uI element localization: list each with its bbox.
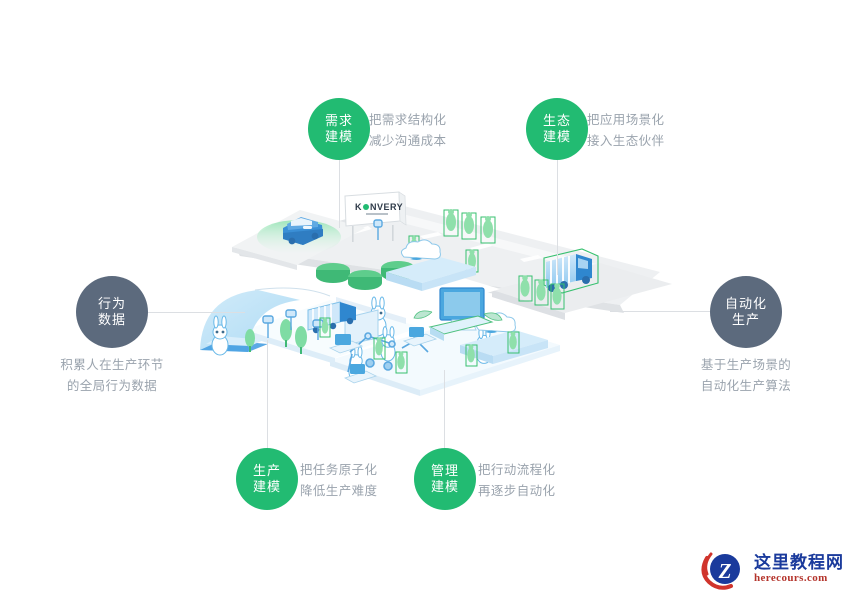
car-platform [232,210,365,270]
robot-arm [348,333,428,372]
people-group-truck [519,275,564,309]
connector-behavior [145,312,245,313]
svg-text:Z: Z [718,559,732,583]
node-production-modeling[interactable]: 生产 建模 [236,448,298,510]
watermark: Z 这里教程网 herecours.com [699,548,844,592]
main-floor [245,268,560,396]
node-label-line2: 建模 [253,479,281,495]
caption-line2: 降低生产难度 [300,481,377,502]
cloud-platform-upper [386,240,476,291]
caption-line2: 减少沟通成本 [369,131,446,152]
node-label-line2: 生产 [732,312,760,328]
caption-line1: 积累人在生产环节 [56,355,168,376]
node-label-line2: 数据 [98,312,126,328]
people-group-lower [320,318,519,373]
caption-automated-production: 基于生产场景的 自动化生产算法 [690,355,802,396]
caption-line1: 把行动流程化 [478,460,555,481]
node-label-line1: 行为 [98,296,126,312]
node-management-modeling[interactable]: 管理 建模 [414,448,476,510]
caption-ecology-modeling: 把应用场景化 接入生态伙伴 [587,110,664,151]
caption-line2: 接入生态伙伴 [587,131,664,152]
caption-line1: 把应用场景化 [587,110,664,131]
node-automated-production[interactable]: 自动化 生产 [710,276,782,348]
node-behavior-data[interactable]: 行为 数据 [76,276,148,348]
watermark-logo-icon: Z [699,548,749,592]
presentation-board [345,310,378,345]
caption-line2: 自动化生产算法 [690,376,802,397]
connector-automation [610,311,710,312]
trees-and-lights [245,220,382,354]
blue-car-icon [283,217,323,245]
node-ecology-modeling[interactable]: 生态 建模 [526,98,588,160]
node-label-line1: 管理 [431,463,459,479]
delivery-truck-icon [544,249,598,293]
watermark-text: 这里教程网 herecours.com [754,555,844,584]
node-label-line1: 生态 [543,113,571,129]
caption-demand-modeling: 把需求结构化 减少沟通成本 [369,110,446,151]
caption-management-modeling: 把行动流程化 再逐步自动化 [478,460,555,501]
watermark-cn: 这里教程网 [754,555,844,573]
caption-line1: 把需求结构化 [369,110,446,131]
dome-tunnel [200,288,330,352]
connector-management [444,370,445,448]
billboard: K NVERY [345,192,406,242]
caption-line1: 基于生产场景的 [690,355,802,376]
node-label-line2: 建模 [325,129,353,145]
caption-production-modeling: 把任务原子化 降低生产难度 [300,460,377,501]
desk-workstations [330,327,436,383]
svg-text:NVERY: NVERY [370,202,403,212]
small-truck-icon [308,302,356,333]
caption-line1: 把任务原子化 [300,460,377,481]
caption-line2: 的全局行为数据 [56,376,168,397]
people-group-upper [409,209,495,272]
node-label-line1: 自动化 [725,296,767,312]
caption-line2: 再逐步自动化 [478,481,555,502]
node-label-line1: 生产 [253,463,281,479]
caption-behavior-data: 积累人在生产环节 的全局行为数据 [56,355,168,396]
cloud-platform-right [460,313,548,364]
node-label-line2: 建模 [431,479,459,495]
node-label-line2: 建模 [543,129,571,145]
rabbit-mascot-group [212,297,492,381]
node-label-line1: 需求 [325,113,353,129]
watermark-en: herecours.com [754,573,844,585]
infographic-canvas: K NVERY [0,0,852,598]
connector-ecology [557,160,558,275]
svg-text:K: K [355,202,362,212]
node-demand-modeling[interactable]: 需求 建模 [308,98,370,160]
connector-production [267,340,268,448]
connector-demand [339,160,340,228]
monitor-screen [414,288,502,341]
server-cylinders [316,261,415,290]
road-platform [236,205,660,313]
